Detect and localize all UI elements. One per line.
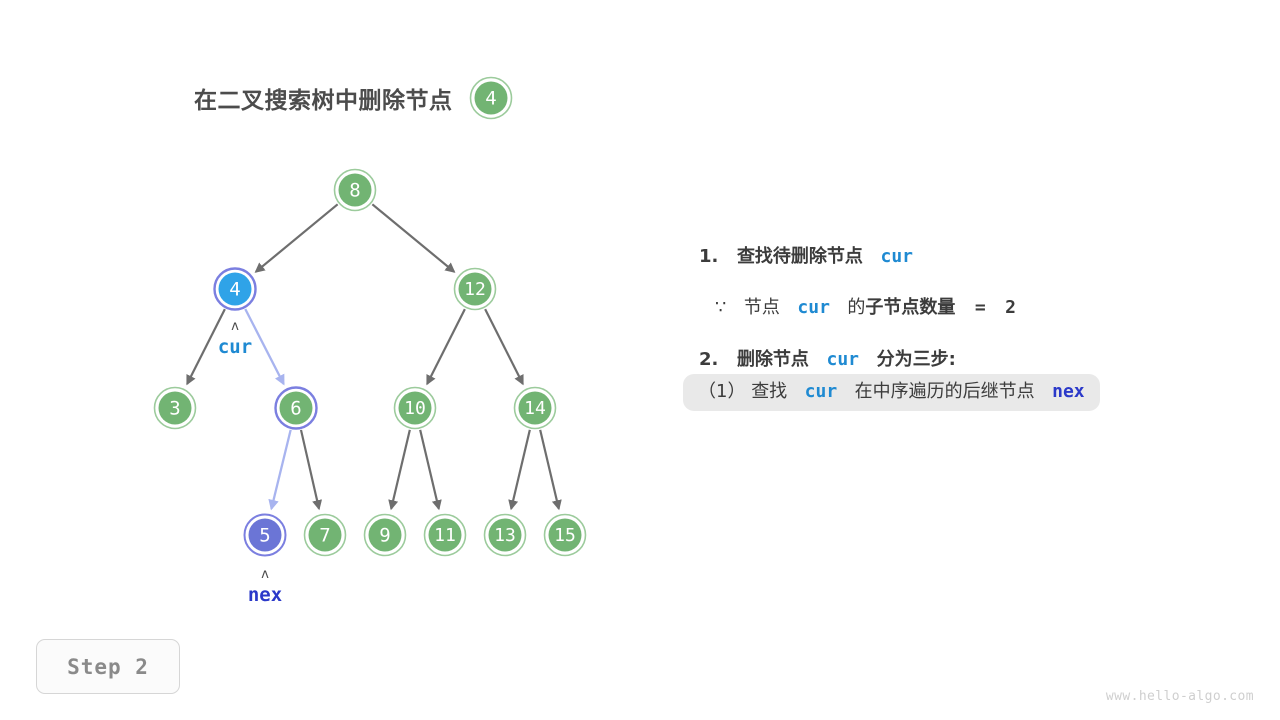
tree-node-value: 11 (434, 525, 456, 546)
tree-nodes: 8412361014579111315 (155, 170, 586, 556)
tree-edge (301, 430, 319, 509)
tree-node-value: 6 (290, 398, 301, 420)
note-substep-wrapper: （1） 查找 cur 在中序遍历的后继节点 nex (699, 374, 1239, 411)
note-3-text-b: 分为三步: (877, 349, 956, 370)
tree-node-value: 5 (259, 525, 270, 547)
tree-edge (420, 430, 439, 509)
note-2-equals: = (975, 297, 986, 318)
watermark: www.hello-algo.com (1106, 689, 1254, 704)
tree-node-value: 7 (319, 525, 330, 547)
pointer-label-cur: cur (218, 336, 252, 358)
tree-node-value: 14 (524, 398, 546, 419)
note-4-token-cur: cur (805, 381, 838, 402)
because-symbol: ∵ (715, 297, 726, 318)
note-2-token-cur: cur (797, 297, 830, 318)
tree-node[interactable]: 5 (245, 515, 286, 556)
tree-node[interactable]: 12 (455, 269, 496, 310)
tree-edge (271, 430, 290, 509)
note-substep-1: （1） 查找 cur 在中序遍历的后继节点 nex (683, 374, 1100, 411)
note-1-text: 查找待删除节点 (737, 246, 863, 267)
tree-edge (427, 309, 465, 384)
tree-node[interactable]: 6 (276, 388, 317, 429)
tree-node[interactable]: 9 (365, 515, 406, 556)
tree-node[interactable]: 13 (485, 515, 526, 556)
tree-node-value: 13 (494, 525, 516, 546)
tree-edge (485, 309, 523, 384)
explanation-panel: 1. 查找待删除节点 cur ∵ 节点 cur 的子节点数量 = 2 2. 删除… (699, 248, 1239, 411)
tree-node[interactable]: 3 (155, 388, 196, 429)
note-4-text-b: 在中序遍历的后继节点 (855, 381, 1035, 402)
tree-node[interactable]: 11 (425, 515, 466, 556)
tree-edge (391, 430, 410, 509)
note-step-2: 2. 删除节点 cur 分为三步: (699, 351, 1239, 369)
tree-node-value: 3 (169, 398, 180, 420)
step-badge: Step 2 (36, 639, 180, 694)
tree-node-value: 10 (404, 398, 426, 419)
note-4-text-a: 查找 (751, 381, 787, 402)
tree-edge (540, 430, 559, 509)
pointer-label-nex: nex (248, 584, 282, 606)
note-2-text-b: 的 (847, 297, 865, 318)
pointer-caret-icon: ʌ (261, 567, 269, 582)
note-2-text-a: 节点 (744, 297, 780, 318)
tree-node[interactable]: 4 (215, 269, 256, 310)
tree-edge (372, 204, 454, 271)
tree-edge (511, 430, 530, 509)
note-3-token-cur: cur (827, 349, 860, 370)
tree-node-value: 4 (229, 279, 240, 301)
note-step-1: 1. 查找待删除节点 cur (699, 248, 1239, 266)
note-reason: ∵ 节点 cur 的子节点数量 = 2 (715, 299, 1239, 317)
tree-node-value: 8 (349, 180, 360, 202)
step-badge-label: Step 2 (67, 655, 149, 679)
note-2-count: 2 (1005, 297, 1016, 318)
tree-node-value: 9 (379, 525, 390, 547)
note-4-index: （1） (698, 381, 745, 402)
tree-node[interactable]: 7 (305, 515, 346, 556)
tree-edge (256, 204, 338, 271)
tree-node[interactable]: 14 (515, 388, 556, 429)
note-1-index: 1. (699, 246, 718, 267)
note-1-token-cur: cur (881, 246, 914, 267)
note-2-bold: 子节点数量 (865, 297, 955, 318)
note-4-token-nex: nex (1052, 381, 1085, 402)
pointer-caret-icon: ʌ (231, 319, 239, 334)
diagram-canvas: 在二叉搜索树中删除节点 4 8412361014579111315 ʌcurʌn… (0, 0, 1280, 720)
note-3-text-a: 删除节点 (737, 349, 809, 370)
tree-node-value: 12 (464, 279, 486, 300)
tree-node[interactable]: 15 (545, 515, 586, 556)
tree-node[interactable]: 10 (395, 388, 436, 429)
tree-node-value: 15 (554, 525, 576, 546)
tree-node[interactable]: 8 (335, 170, 376, 211)
note-3-index: 2. (699, 349, 718, 370)
